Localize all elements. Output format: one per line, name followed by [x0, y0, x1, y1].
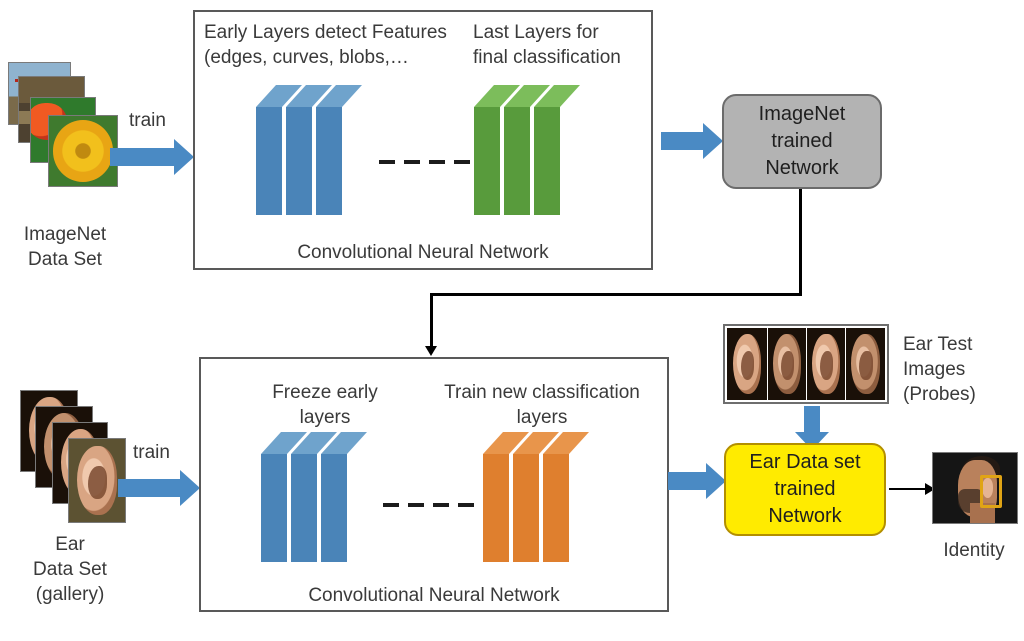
last-layer-stack-green	[474, 85, 570, 217]
slab-front-face	[261, 454, 287, 562]
imagenet-dataset-label: ImageNet Data Set	[0, 222, 130, 272]
identity-label: Identity	[922, 538, 1024, 563]
arrow-head	[703, 123, 723, 159]
slab-front-face	[534, 107, 560, 215]
arrow-shaft	[804, 406, 820, 434]
diagram-canvas: ImageNet Data Set train Early Layers det…	[0, 0, 1024, 641]
freeze-layers-label: Freeze early layers	[245, 380, 405, 430]
slab-front-face	[513, 454, 539, 562]
probe-ear-3	[807, 328, 845, 400]
probe-ear-1	[727, 328, 767, 400]
slab-front-face	[474, 107, 500, 215]
bottom-cnn-caption: Convolutional Neural Network	[199, 583, 669, 608]
slab-front-face	[286, 107, 312, 215]
train-new-layers-label: Train new classification layers	[427, 380, 657, 430]
slab-front-face	[504, 107, 530, 215]
dash	[404, 160, 420, 164]
arrow-shaft	[110, 148, 176, 166]
identified-face-photo	[932, 452, 1018, 524]
last-layers-label: Last Layers for final classification	[473, 20, 621, 70]
connector-horizontal	[430, 293, 802, 296]
ear-shadow	[859, 351, 872, 380]
slab-front-face	[316, 107, 342, 215]
result-connector-line	[889, 488, 928, 490]
imagenet-trained-network-box[interactable]: ImageNet trained Network	[722, 94, 882, 189]
arrow-head	[180, 470, 200, 506]
new-classification-stack-orange	[483, 432, 579, 564]
connector-vertical-right	[799, 189, 802, 295]
ear-shadow	[781, 351, 794, 380]
dash	[383, 503, 399, 507]
slab-front-face	[291, 454, 317, 562]
slab-front-face	[543, 454, 569, 562]
ear-dataset-images	[20, 390, 150, 540]
probe-ear-2	[768, 328, 806, 400]
arrow-head	[174, 139, 194, 175]
dash	[458, 503, 474, 507]
early-layers-label: Early Layers detect Features (edges, cur…	[204, 20, 447, 70]
ear-dataset-label: Ear Data Set (gallery)	[0, 532, 140, 607]
arrow-shaft	[668, 472, 708, 490]
dash	[433, 503, 449, 507]
probe-images-label: Ear Test Images (Probes)	[903, 332, 976, 407]
slab-front-face	[256, 107, 282, 215]
connector-vertical-left	[430, 293, 433, 348]
slab-front-face	[321, 454, 347, 562]
top-layer-dashes	[379, 160, 470, 164]
ear-bounding-box	[980, 475, 1002, 508]
probe-images	[727, 328, 885, 400]
dash	[429, 160, 445, 164]
ear-shadow	[88, 466, 107, 499]
arrow-head	[706, 463, 726, 499]
top-train-arrow	[110, 139, 194, 175]
early-layer-stack-blue	[256, 85, 352, 217]
frozen-layer-stack-blue	[261, 432, 357, 564]
bottom-layer-dashes	[383, 503, 474, 507]
imagenet-output-arrow	[661, 123, 723, 159]
bottom-train-label: train	[133, 440, 170, 465]
arrow-shaft	[118, 479, 182, 497]
probe-ear-4	[846, 328, 885, 400]
bottom-train-arrow	[118, 470, 200, 506]
slab-front-face	[483, 454, 509, 562]
ear-trained-network-box[interactable]: Ear Data set trained Network	[724, 443, 886, 536]
top-cnn-caption: Convolutional Neural Network	[193, 240, 653, 265]
dash	[454, 160, 470, 164]
ear-output-arrow	[668, 463, 726, 499]
dash	[379, 160, 395, 164]
flower-photo	[48, 115, 118, 187]
arrow-shaft	[661, 132, 705, 150]
connector-arrow-head	[425, 346, 437, 356]
top-train-label: train	[129, 108, 166, 133]
ear-shadow	[741, 351, 755, 380]
ear-shadow	[820, 351, 833, 380]
dash	[408, 503, 424, 507]
